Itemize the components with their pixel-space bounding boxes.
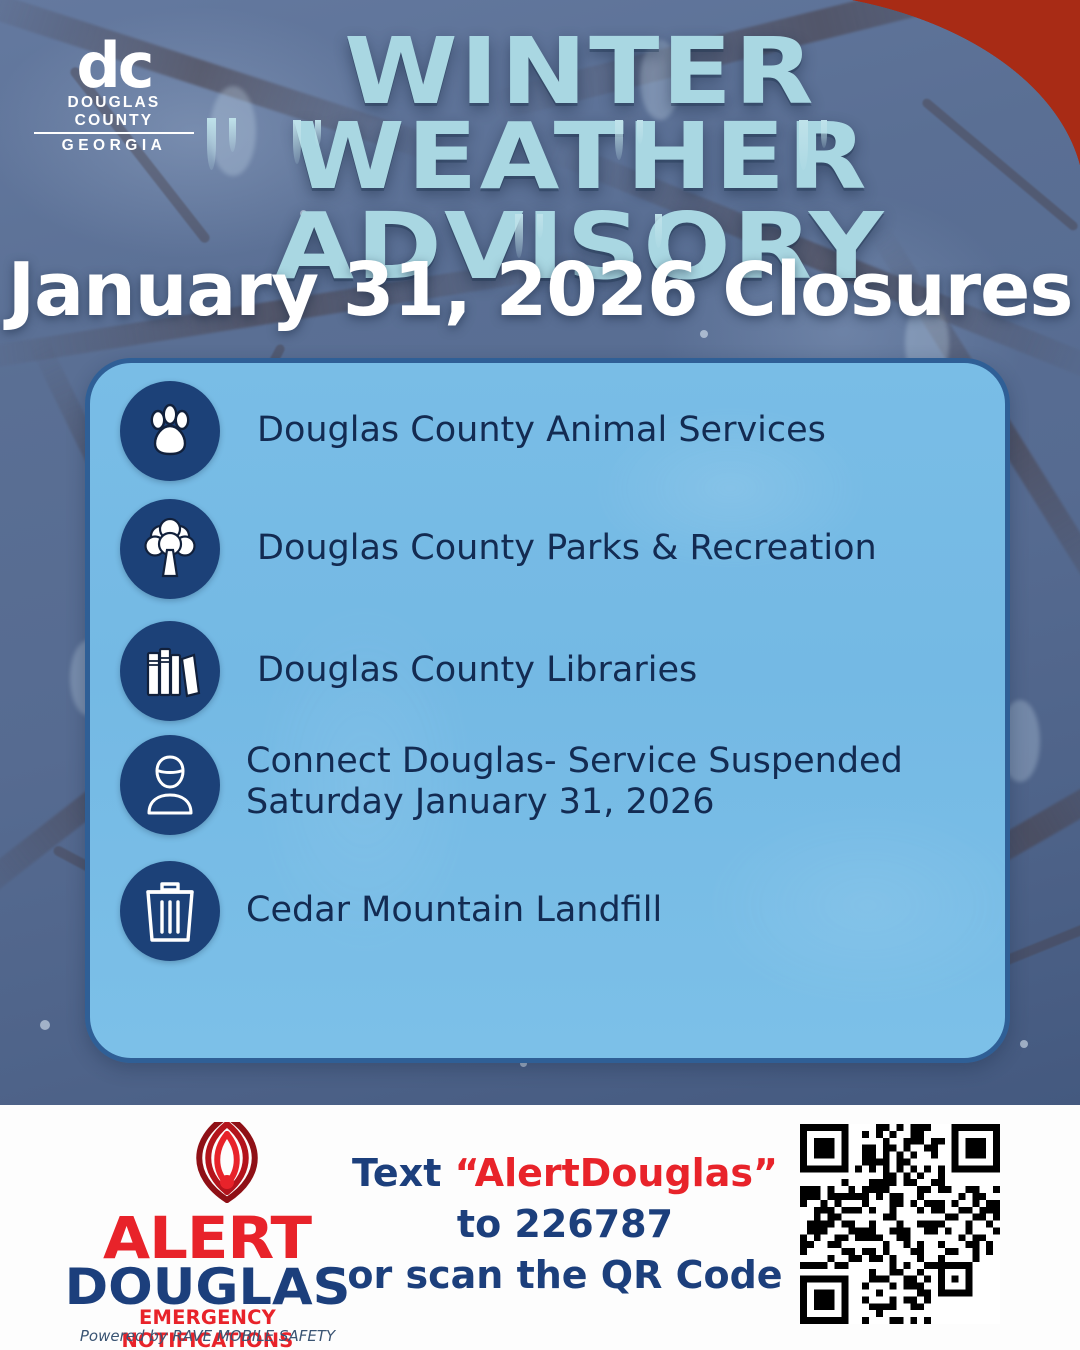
powered-by-label: Powered by RAVE MOBILE SAFETY	[70, 1327, 345, 1345]
list-item-label: Cedar Mountain Landfill	[246, 890, 662, 931]
list-item-label: Douglas County Parks & Recreation	[257, 528, 877, 569]
trash-can-icon	[120, 861, 220, 961]
cta-line-1: Text “AlertDouglas”	[330, 1148, 800, 1199]
advisory-title-line1: WINTER WEATHER	[138, 30, 1023, 199]
list-item: Cedar Mountain Landfill	[120, 861, 662, 961]
tree-icon	[120, 499, 220, 599]
closures-list: Douglas County Animal Services	[90, 363, 1005, 1058]
cta-line-3: or scan the QR Code	[330, 1250, 800, 1301]
list-item: Douglas County Animal Services	[120, 381, 826, 481]
list-item: Douglas County Parks & Recreation	[120, 499, 877, 599]
books-icon	[120, 621, 220, 721]
cta-keyword: “AlertDouglas”	[455, 1151, 778, 1195]
winter-weather-advisory-poster: dc DOUGLAS COUNTY GEORGIA WINTER WEATHER…	[0, 0, 1080, 1350]
list-item-label: Douglas County Animal Services	[257, 410, 826, 451]
cta-text-prefix: Text	[352, 1151, 455, 1195]
list-item-label: Connect Douglas- Service Suspended	[246, 741, 903, 781]
person-icon	[120, 735, 220, 835]
alert-douglas-logo: ALERT DOUGLAS EMERGENCY NOTIFICATIONS Po…	[60, 1118, 350, 1333]
closures-card: Douglas County Animal Services	[85, 358, 1010, 1063]
page-title: January 31, 2026 Closures	[0, 247, 1080, 333]
list-item: Douglas County Libraries	[120, 621, 697, 721]
qr-code[interactable]	[800, 1124, 1012, 1324]
list-item-sublabel: Saturday January 31, 2026	[246, 782, 903, 823]
paw-print-icon	[120, 381, 220, 481]
list-item: Connect Douglas- Service Suspended Satur…	[120, 735, 903, 835]
sms-signup-cta: Text “AlertDouglas” to 226787 or scan th…	[330, 1148, 800, 1301]
list-item-label: Douglas County Libraries	[257, 650, 697, 691]
list-item-label-group: Connect Douglas- Service Suspended Satur…	[246, 741, 903, 824]
cta-line-2: to 226787	[330, 1199, 800, 1250]
